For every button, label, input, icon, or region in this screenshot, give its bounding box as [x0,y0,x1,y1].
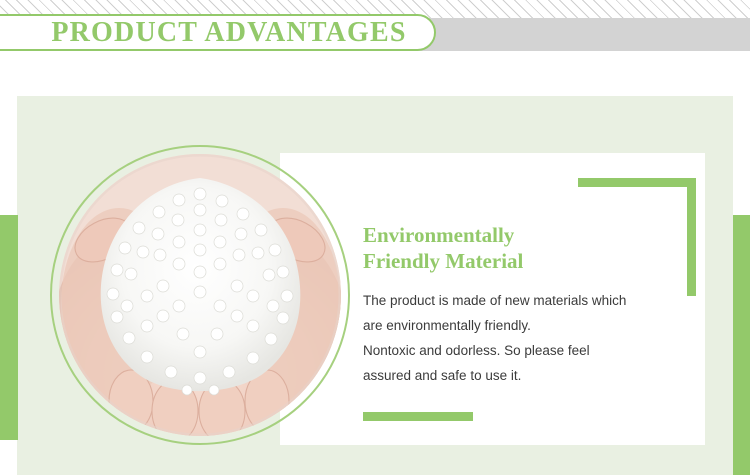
product-advantages-page: PRODUCT ADVANTAGES Environmentally Frien… [0,0,750,475]
corner-bracket-horizontal-bar [578,178,696,187]
corner-bracket-vertical-bar [687,178,696,296]
page-title: PRODUCT ADVANTAGES [34,14,424,51]
feature-description: The product is made of new materials whi… [363,288,673,388]
feature-text-block: Environmentally Friendly Material The pr… [363,222,673,388]
product-photo [59,154,341,436]
page-header: PRODUCT ADVANTAGES [0,0,750,62]
left-edge-accent-tab [0,215,18,440]
right-edge-accent-tab [733,215,750,475]
accent-underline-bar [363,412,473,421]
feature-headline: Environmentally Friendly Material [363,222,673,274]
